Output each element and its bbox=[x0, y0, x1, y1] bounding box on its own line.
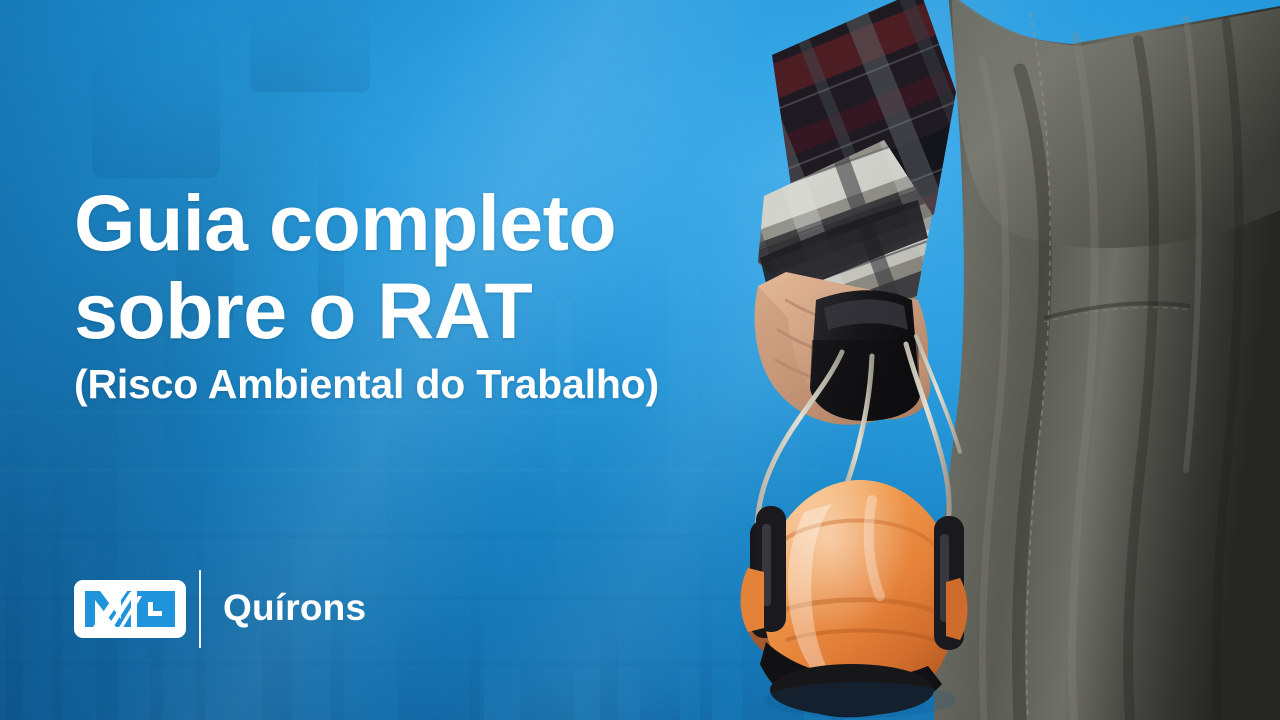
brand-wordmark: Quírons bbox=[223, 589, 366, 629]
ear-muffs bbox=[741, 480, 968, 718]
logo-divider bbox=[199, 570, 201, 648]
brand-logo-lockup[interactable]: Quírons bbox=[74, 570, 366, 648]
ng-monogram-icon bbox=[74, 580, 186, 638]
page-title: Guia completo sobre o RAT bbox=[74, 179, 734, 355]
worker-holding-ear-muffs-photo bbox=[720, 0, 1280, 720]
page-subtitle: (Risco Ambiental do Trabalho) bbox=[74, 359, 659, 409]
banner-canvas: Guia completo sobre o RAT (Risco Ambient… bbox=[0, 0, 1280, 720]
